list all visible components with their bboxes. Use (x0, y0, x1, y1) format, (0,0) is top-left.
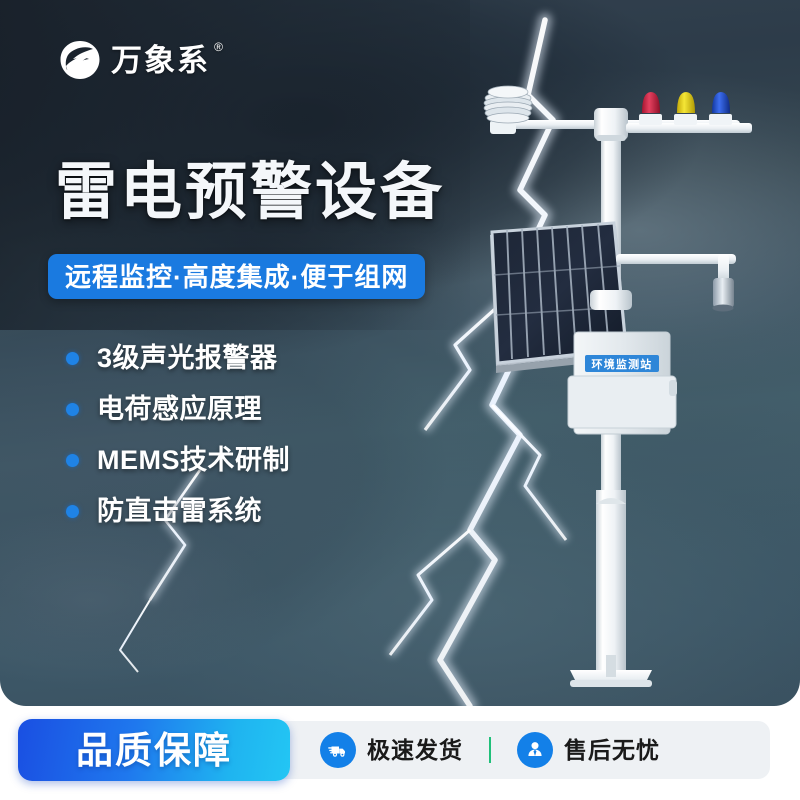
support-agent-icon (517, 732, 553, 768)
feature-label-1: 3级声光报警器 (97, 345, 278, 372)
alarm-beacon-yellow (674, 92, 697, 125)
service-after-sales: 售后无忧 (517, 732, 660, 768)
subtitle-banner: 远程监控·高度集成·便于组网 (48, 254, 425, 299)
feature-label-4: 防直击雷系统 (97, 498, 262, 525)
feature-label-2: 电荷感应原理 (97, 396, 262, 423)
logo-wordmark: 万象系 ® (111, 45, 210, 76)
footer-service-items: 极速发货 售后无忧 (320, 721, 660, 779)
alarm-beacon-red (639, 92, 662, 125)
control-enclosure: 环境监测站 (568, 332, 677, 434)
delivery-truck-icon (320, 732, 356, 768)
cylinder-sensor (713, 278, 734, 308)
service-fast-shipping: 极速发货 (320, 732, 463, 768)
enclosure-label-text: 环境监测站 (592, 357, 653, 371)
page-title: 雷电预警设备 (55, 160, 445, 227)
quality-badge: 品质保障 (18, 719, 290, 781)
feature-item-3: MEMS技术研制 (66, 447, 290, 474)
brand-logo: 万象系 ® (58, 38, 210, 82)
registered-trademark-icon: ® (214, 41, 225, 53)
logo-text-label: 万象系 (111, 43, 210, 78)
feature-label-3: MEMS技术研制 (97, 447, 290, 474)
promo-page: 环境监测站 万象系 ® 雷电预警设备 远程监控·高度集成·便于组网 3级声光报警… (0, 0, 800, 800)
bullet-dot-icon (66, 505, 79, 518)
feature-list: 3级声光报警器 电荷感应原理 MEMS技术研制 防直击雷系统 (66, 345, 290, 525)
footer-divider (489, 737, 491, 763)
alarm-beacon-blue (709, 92, 732, 125)
service-label-shipping: 极速发货 (367, 739, 463, 762)
subtitle-banner-text: 远程监控·高度集成·便于组网 (65, 264, 408, 290)
feature-item-1: 3级声光报警器 (66, 345, 290, 372)
bullet-dot-icon (66, 352, 79, 365)
service-label-aftersales: 售后无忧 (564, 739, 660, 762)
bullet-dot-icon (66, 403, 79, 416)
swoosh-sphere-icon (58, 38, 102, 82)
product-illustration: 环境监测站 (430, 80, 800, 700)
bullet-dot-icon (66, 454, 79, 467)
feature-item-4: 防直击雷系统 (66, 498, 290, 525)
quality-badge-text: 品质保障 (76, 732, 232, 769)
feature-item-2: 电荷感应原理 (66, 396, 290, 423)
